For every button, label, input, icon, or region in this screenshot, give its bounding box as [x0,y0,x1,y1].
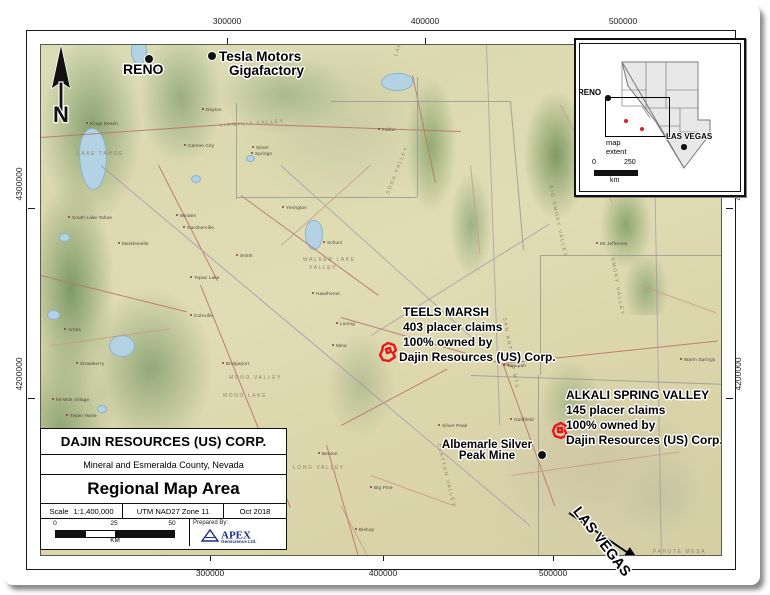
place-name: Hawthorne [316,291,340,296]
place-name: Springs [255,151,272,156]
inset-map-inner: RENO LAS VEGAS map extent 0 250 km [579,43,741,192]
inset-dot-las-vegas [681,144,687,150]
teels-marsh-ownership: 100% owned by [403,335,556,349]
title-block-bottom-row: 0 25 50 KM Prepared By: APEX Geoscience … [41,519,286,546]
place-name: Bridgeport [226,361,249,366]
valley-name: WALKER LAKE [303,257,356,263]
place-name: Gardnerville [187,225,214,230]
map-page: 300000 400000 500000 300000 400000 50000… [4,4,760,585]
place-name: Big Pine [374,485,393,490]
place-name: Artois [68,327,81,332]
place-name: Mina [336,343,347,348]
place-name: Schurz [327,240,343,245]
axis-label-bottom-1: 400000 [369,568,397,578]
boundary-county-4 [331,101,511,102]
place-name: Goldfield [514,417,534,422]
annotation-alkali-spring-valley: ALKALI SPRING VALLEY 145 placer claims 1… [566,388,722,447]
svg-text:N: N [53,102,69,126]
title-block-date: Oct 2018 [224,504,286,518]
axis-label-left-1: 4200000 [14,349,24,399]
place-name: Bishop [359,527,374,532]
apex-logo: APEX Geoscience Ltd. [200,527,284,544]
lake-small-4 [97,405,107,413]
place-name: Kings Beach [90,121,118,126]
label-reno: RENO [123,61,163,77]
valley-name: LAKE TAHOE [77,151,124,157]
inset-dot-reno [605,95,611,101]
label-tesla-line1: Tesla Motors [219,49,304,64]
title-block-datum: UTM NAD27 Zone 11 [123,504,224,518]
place-name: South Lake Tahoe [72,215,112,220]
north-arrow: N [46,44,76,126]
valley-name: LONG VALLEY [293,465,345,471]
lake-small-3 [47,310,60,320]
inset-scalebar-body [594,170,638,176]
label-albemarle-mine: Albemarle Silver Peak Mine [439,439,535,462]
inset-map[interactable]: RENO LAS VEGAS map extent 0 250 km [574,38,746,197]
place-name: Topaz Lake [194,275,220,280]
title-block-scale-cell: Scale 1:1,400,000 [41,504,123,518]
axis-tick-right-1 [726,398,733,399]
boundary-county-1 [236,103,237,199]
place-name: Warm Springs [684,357,715,362]
place-name: Smith [240,253,253,258]
label-tesla-gigafactory: Tesla Motors Gigafactory [219,49,304,78]
teels-marsh-title: TEELS MARSH [403,305,556,319]
place-name: Silver [256,145,269,150]
place-name: Strawberry [80,361,104,366]
scale-value: 1:1,400,000 [73,507,113,516]
alkali-claims: 145 placer claims [566,403,722,417]
title-block-meta-row: Scale 1:1,400,000 UTM NAD27 Zone 11 Oct … [41,504,286,519]
prepared-by-label: Prepared By: [193,520,228,526]
inset-label-reno: RENO [579,88,601,97]
axis-tick-left-0 [28,208,35,209]
city-dot-tesla-gigafactory [208,52,216,60]
title-block-company: DAJIN RESOURCES (US) CORP. [41,429,286,455]
place-name: Markleeville [122,241,149,246]
scalebar-tick-2: 50 [168,520,175,527]
inset-scalebar-tick-0: 0 [592,159,596,166]
place-name: Dayton [206,107,222,112]
lake-small-1 [191,175,201,183]
valley-name: MONO LAKE [223,393,267,399]
inset-scalebar-units: km [610,177,619,184]
place-name: Coleville [194,313,213,318]
valley-name: VALLEY [309,265,337,271]
scalebar: 0 25 50 KM [41,519,190,546]
boundary-county-3 [417,77,418,197]
axis-tick-left-1 [28,398,35,399]
scalebar-tick-0: 0 [53,520,57,527]
valley-name: MONO VALLEY [229,375,282,381]
title-block-subtitle: Mineral and Esmeralda County, Nevada [41,455,286,475]
alkali-title: ALKALI SPRING VALLEY [566,388,722,402]
prepared-by-cell: Prepared By: APEX Geoscience Ltd. [190,519,286,546]
inset-extent-line1: map [606,138,621,147]
mine-dot-albemarle [538,451,546,459]
axis-label-top-1: 400000 [411,16,439,26]
inset-claim-alkali-spring-valley [640,127,644,131]
place-name: Silver Peak [442,423,467,428]
axis-label-bottom-0: 300000 [196,568,224,578]
scalebar-units: KM [41,537,189,544]
axis-label-bottom-2: 500000 [539,568,567,578]
inset-extent-line2: extent [606,147,626,156]
scale-label: Scale [49,507,68,516]
inset-claim-teels-marsh [624,119,628,123]
inset-scalebar-tick-1: 250 [624,159,636,166]
teels-marsh-claims: 403 placer claims [403,320,556,334]
axis-label-left-0: 4300000 [14,159,24,209]
inset-map-extent-box [605,97,670,137]
place-name: Minden [180,213,196,218]
axis-label-top-2: 500000 [609,16,637,26]
axis-label-right-1: 4200000 [733,349,743,399]
title-block: DAJIN RESOURCES (US) CORP. Mineral and E… [40,428,287,550]
boundary-county-9 [538,375,539,555]
place-name: Carson City [188,143,214,148]
teels-marsh-owner: Dajin Resources (US) Corp. [399,350,556,364]
scalebar-tick-1: 25 [110,520,117,527]
alkali-ownership: 100% owned by [566,418,722,432]
place-name: Fallon [382,127,396,132]
lake-small-2 [59,233,70,242]
place-name: Luning [340,321,355,326]
lahontan-reservoir [381,73,413,91]
place-name: Benton [322,451,338,456]
lake-small-5 [246,155,255,162]
boundary-county-2 [237,197,417,198]
annotation-teels-marsh: TEELS MARSH 403 placer claims 100% owned… [403,305,556,364]
place-name: Mt Jefferson [600,241,628,246]
alkali-owner: Dajin Resources (US) Corp. [566,433,722,447]
title-block-map-title: Regional Map Area [41,475,286,504]
mono-lake [109,335,135,357]
svg-text:Geoscience Ltd.: Geoscience Ltd. [221,539,257,544]
label-albemarle-line2: Peak Mine [439,450,535,462]
axis-label-top-0: 300000 [213,16,241,26]
place-name: Twain Harte [70,413,97,418]
axis-tick-right-0 [726,208,733,209]
inset-label-las-vegas: LAS VEGAS [666,132,712,141]
label-tesla-line2: Gigafactory [229,63,304,78]
place-name: Yerington [286,205,307,210]
place-name: Mi-Wuk Village [56,397,89,402]
